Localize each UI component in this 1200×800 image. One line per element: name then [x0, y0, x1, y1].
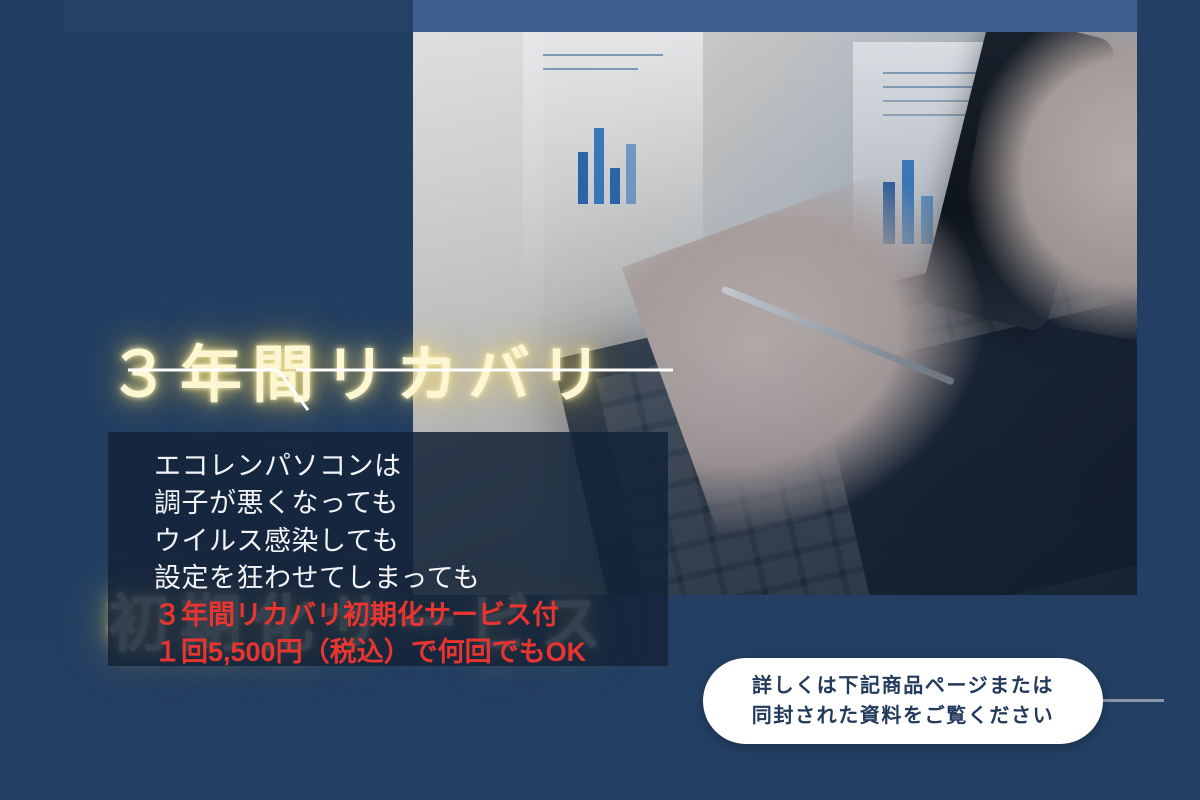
- headline-line-1: ３年間リカバリ: [108, 334, 868, 417]
- copy-highlight-2: １回5,500円（税込）で何回でもOK: [154, 634, 668, 671]
- promotional-banner: ３年間リカバリ 初期化サービス エコレンパソコンは 調子が悪くなっても ウイルス…: [0, 0, 1200, 800]
- copy-line-2: 調子が悪くなっても: [154, 485, 668, 522]
- body-copy-box: エコレンパソコンは 調子が悪くなっても ウイルス感染しても 設定を狂わせてしまっ…: [108, 432, 668, 666]
- copy-line-1: エコレンパソコンは: [154, 448, 668, 485]
- callout-pill[interactable]: 詳しくは下記商品ページまたは 同封された資料をご覧ください: [703, 658, 1103, 744]
- callout-line-1: 詳しくは下記商品ページまたは: [752, 671, 1054, 701]
- copy-line-4: 設定を狂わせてしまっても: [154, 560, 668, 597]
- callout-line-2: 同封された資料をご覧ください: [752, 701, 1054, 731]
- copy-line-3: ウイルス感染しても: [154, 523, 668, 560]
- copy-highlight-1: ３年間リカバリ初期化サービス付: [154, 597, 668, 634]
